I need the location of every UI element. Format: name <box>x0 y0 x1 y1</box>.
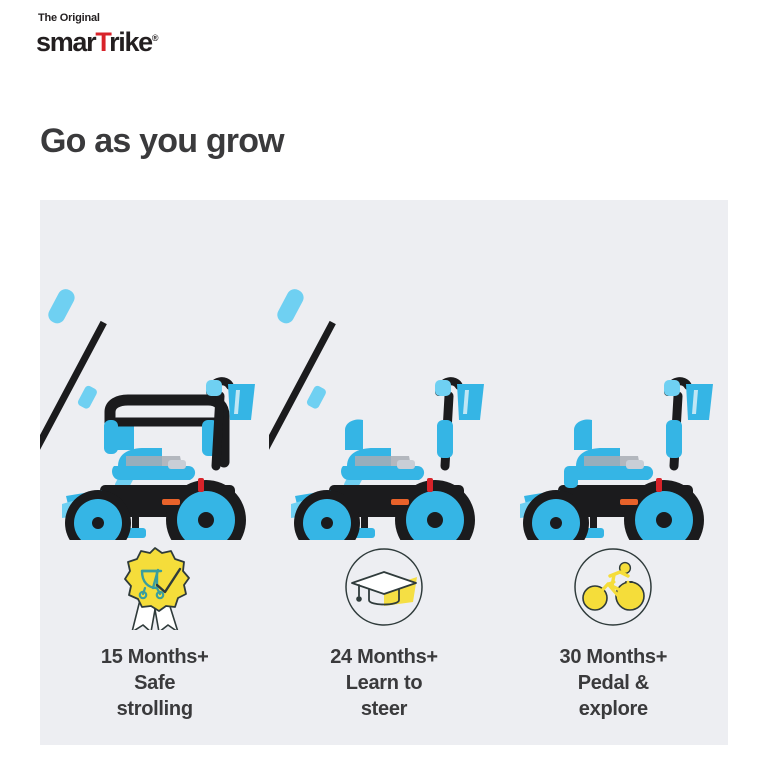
stage-feature-line2-2: steer <box>330 696 438 722</box>
stage-age-label-3: 30 Months+ <box>560 644 668 670</box>
brand-name-part1: smar <box>36 27 95 57</box>
brand-tagline: The Original <box>38 12 256 24</box>
stage-caption-2: 24 Months+ Learn to steer <box>330 644 438 722</box>
graduation-cap-icon <box>341 544 427 630</box>
page-title: Go as you grow <box>40 121 284 161</box>
cyclist-bicycle-icon <box>570 544 656 630</box>
trike-with-handle-and-safety-bar <box>40 280 270 540</box>
trike-illustration-2 <box>269 200 498 540</box>
stage-feature-line1-2: Learn to <box>330 670 438 696</box>
trike-illustration-1 <box>40 200 269 540</box>
trike-illustration-3 <box>499 200 728 540</box>
stage-feature-line1-1: Safe <box>101 670 209 696</box>
stage-feature-line1-3: Pedal & <box>560 670 668 696</box>
stage-feature-line2-1: strolling <box>101 696 209 722</box>
stage-feature-line2-3: explore <box>560 696 668 722</box>
brand-name-part2: rike <box>109 27 152 57</box>
registered-trademark-symbol: ® <box>152 33 159 43</box>
trike-pedal-only <box>498 280 728 540</box>
feature-icon-1 <box>112 544 198 630</box>
stages-panel: 15 Months+ Safe strolling <box>40 200 728 745</box>
stage-column-1: 15 Months+ Safe strolling <box>40 200 269 745</box>
stage-age-label-1: 15 Months+ <box>101 644 209 670</box>
feature-icon-3 <box>570 544 656 630</box>
stage-column-3: 30 Months+ Pedal & explore <box>499 200 728 745</box>
feature-icon-2 <box>341 544 427 630</box>
brand-name-accent-letter: T <box>95 27 109 57</box>
trike-with-handle <box>269 280 499 540</box>
stage-age-label-2: 24 Months+ <box>330 644 438 670</box>
stage-caption-3: 30 Months+ Pedal & explore <box>560 644 668 722</box>
award-rosette-stroller-icon <box>112 544 198 630</box>
stage-caption-1: 15 Months+ Safe strolling <box>101 644 209 722</box>
brand-wordmark: smarTrike® <box>36 24 256 56</box>
stage-column-2: 24 Months+ Learn to steer <box>269 200 498 745</box>
brand-logo: The Original smarTrike® <box>36 12 256 56</box>
